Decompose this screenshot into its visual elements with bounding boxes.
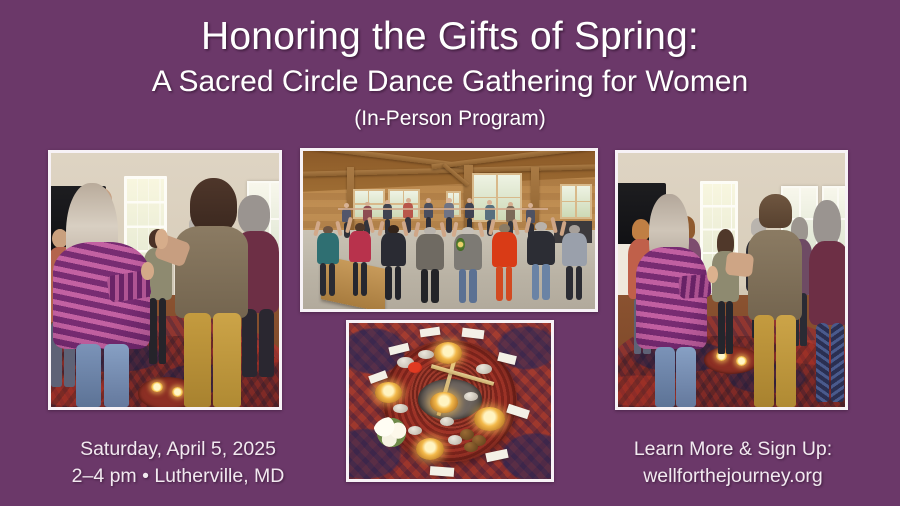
signup-details: Learn More & Sign Up: wellforthejourney.… [588,436,878,490]
poster-heading-block: Honoring the Gifts of Spring: A Sacred C… [0,14,900,133]
hair-brown-bob [190,178,237,233]
photo-circle-dance-group [615,150,848,410]
dancer-near [560,221,589,300]
white-stone [464,392,478,401]
brown-tshirt [748,230,803,320]
dancer-near [315,221,341,297]
dancer-near [452,222,484,303]
poster-program-note: (In-Person Program) [0,105,900,133]
dancer-foreground-left [53,183,158,407]
hand-clasped [141,262,154,280]
photo-barn-circle [300,148,598,312]
hand-clasped [707,266,718,283]
dancer-near [414,222,446,303]
patterned-leggings [816,323,829,402]
purple-ikat-jacket [636,247,707,349]
photo-circle-dance-pair [48,150,282,410]
event-details: Saturday, April 5, 2025 2–4 pm • Lutherv… [28,436,328,490]
photo-right-content [618,153,845,407]
paper-note [429,466,454,477]
dancer-near [379,221,408,300]
event-poster: Honoring the Gifts of Spring: A Sacred C… [0,0,900,506]
hair-with-headband [759,194,792,228]
arm-reaching [725,252,754,278]
white-flowers [373,417,409,448]
barn-window [560,184,592,219]
signup-website-url[interactable]: wellforthejourney.org [588,463,878,490]
photo-left-content [51,153,279,407]
blue-jeans [655,347,675,407]
dancer-foreground-right [745,194,809,407]
mustard-pants [754,315,774,407]
white-stone [440,417,454,426]
joined-arms-line [338,208,548,210]
person-circle-right [809,204,845,402]
mustard-pants [184,313,211,407]
white-stone [418,350,434,359]
photo-barn-content [303,151,595,309]
dancer-foreground-right [170,178,261,407]
event-date: Saturday, April 5, 2025 [28,436,328,463]
person-circle [711,232,741,354]
tea-light-candle [416,438,444,460]
red-flower [408,362,422,373]
wreath-decoration [456,238,464,251]
event-time-location: 2–4 pm • Lutherville, MD [28,463,328,490]
poster-subtitle: A Sacred Circle Dance Gathering for Wome… [0,62,900,102]
white-stone [408,426,422,435]
photo-altar-centerpiece [346,320,554,482]
page-title: Honoring the Gifts of Spring: [0,14,900,60]
dancer-near [490,219,519,301]
signup-call-to-action: Learn More & Sign Up: [588,436,878,463]
dancer-foreground-left [636,194,713,407]
tea-light-candle [434,342,462,364]
blue-jeans [76,344,101,407]
photo-altar-content [349,323,551,479]
dancer-near [525,217,557,299]
brown-tshirt [175,226,248,317]
dancer-near [347,217,373,296]
tea-light-candle [375,382,401,402]
tea-light-candle [474,407,504,430]
